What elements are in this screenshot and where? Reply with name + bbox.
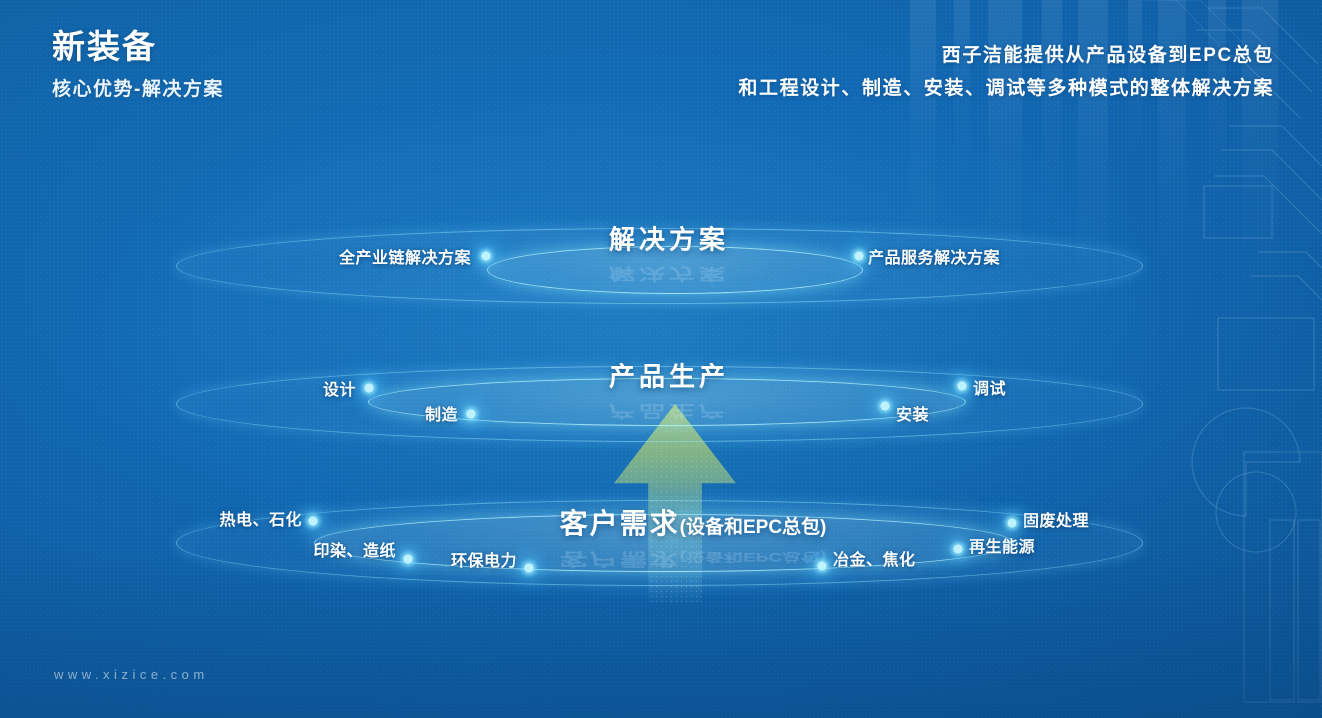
node-label-thermal-petrochemical: 热电、石化 (219, 506, 302, 530)
node-dot-printing-papermaking (404, 555, 413, 564)
node-dot-manufacture (467, 410, 476, 419)
node-label-installation: 安装 (896, 401, 929, 425)
ring-center-label-demand-sub: (设备和EPC总包) (680, 517, 827, 538)
node-dot-product-service (855, 252, 864, 261)
node-label-renewable-energy: 再生能源 (969, 533, 1035, 557)
node-dot-metallurgy-coking (818, 562, 827, 571)
node-label-environmental-power: 环保电力 (451, 547, 517, 571)
ring-center-reflection-production: 产品生产 (609, 401, 729, 424)
footer-website: www.xizice.com (54, 667, 209, 682)
node-dot-solid-waste-treatment (1008, 519, 1017, 528)
node-dot-thermal-petrochemical (309, 517, 318, 526)
node-dot-design (365, 384, 374, 393)
node-dot-renewable-energy (954, 545, 963, 554)
ring-center-label-production: 产品生产 (609, 357, 729, 394)
node-label-printing-papermaking: 印染、造纸 (313, 537, 396, 561)
node-label-commissioning: 调试 (973, 375, 1006, 399)
node-label-full-industry-chain: 全产业链解决方案 (339, 244, 471, 268)
diagram-stage: 解决方案 解决方案 全产业链解决方案 产品服务解决方案 产品生产 产品生产 设计… (0, 0, 1322, 718)
ring-center-reflection-demand-main: 客户需求 (560, 549, 680, 568)
ring-center-reflection-solutions: 解决方案 (609, 264, 729, 287)
node-label-metallurgy-coking: 冶金、焦化 (833, 546, 916, 570)
ring-center-label-solutions: 解决方案 (609, 220, 729, 257)
ring-center-reflection-demand-sub: (设备和EPC总包) (680, 550, 827, 563)
node-label-design: 设计 (323, 376, 356, 400)
node-label-manufacture: 制造 (425, 401, 458, 425)
ring-center-label-demand: 客户需求(设备和EPC总包) (560, 502, 827, 542)
node-label-solid-waste-treatment: 固废处理 (1023, 507, 1089, 531)
node-dot-commissioning (958, 382, 967, 391)
slide-canvas: 新装备 核心优势-解决方案 西子洁能提供从产品设备到EPC总包 和工程设计、制造… (0, 0, 1322, 718)
ring-center-label-demand-main: 客户需求 (560, 508, 680, 539)
ring-center-reflection-demand: 客户需求(设备和EPC总包) (560, 548, 827, 573)
node-dot-full-industry-chain (482, 252, 491, 261)
node-dot-installation (881, 402, 890, 411)
node-label-product-service: 产品服务解决方案 (868, 244, 1000, 268)
node-dot-environmental-power (525, 564, 534, 573)
